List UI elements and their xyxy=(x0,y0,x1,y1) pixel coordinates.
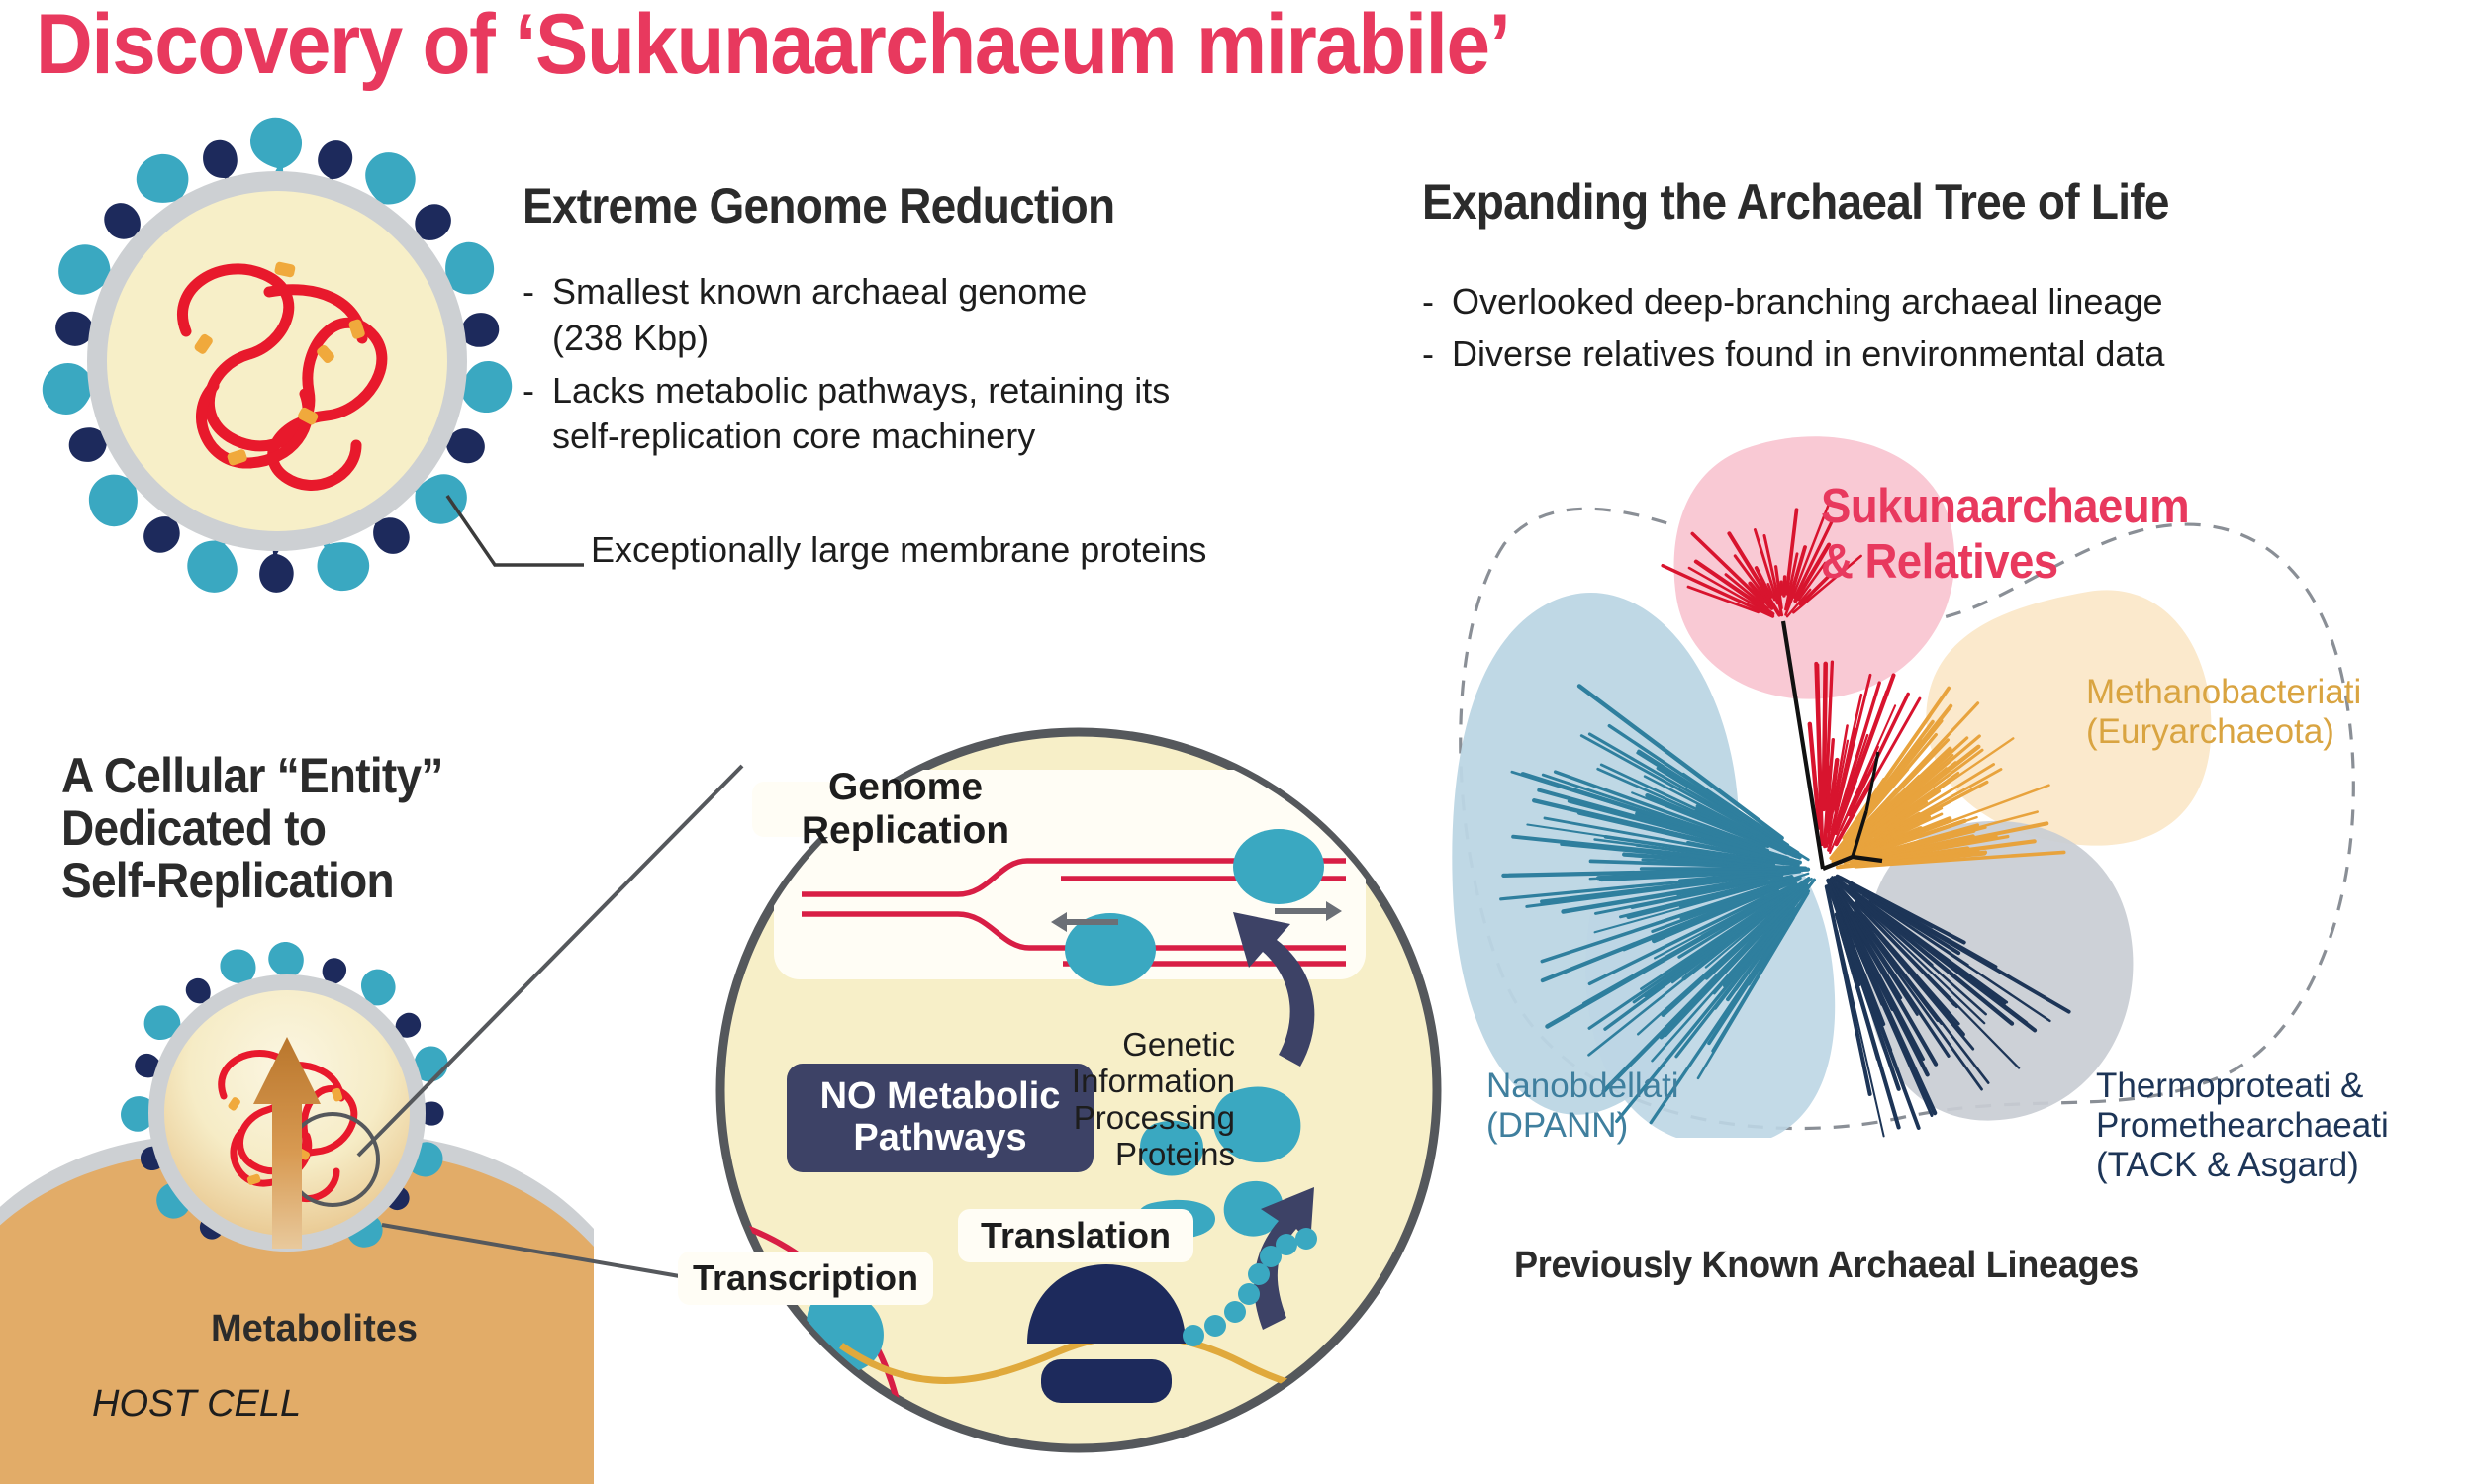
page-title: Discovery of ‘Sukunaarchaeum mirabile’ xyxy=(36,2,2152,87)
heading-tree-of-life: Expanding the Archaeal Tree of Life xyxy=(1422,176,2169,229)
bullets-tree-of-life: - Overlooked deep-branching archaeal lin… xyxy=(1422,279,2461,384)
bullet-dash: - xyxy=(523,269,552,362)
bullet-dash: - xyxy=(1422,279,1452,325)
tree-label-previously-known: Previously Known Archaeal Lineages xyxy=(1514,1245,2139,1287)
bullet-dash: - xyxy=(523,368,552,461)
polymerase-blob-icon xyxy=(1233,829,1324,904)
badge-translation: Translation xyxy=(958,1209,1193,1262)
bullet-text: Smallest known archaeal genome (238 Kbp) xyxy=(552,269,1087,362)
bullet-item: - Smallest known archaeal genome (238 Kb… xyxy=(523,269,1393,362)
label-host-cell: HOST CELL xyxy=(92,1383,301,1426)
bullet-item: - Overlooked deep-branching archaeal lin… xyxy=(1422,279,2461,325)
cell-cytoplasm xyxy=(107,191,447,531)
bullet-dash: - xyxy=(1422,331,1452,378)
bullet-item: - Lacks metabolic pathways, retaining it… xyxy=(523,368,1393,461)
heading-genome-reduction: Extreme Genome Reduction xyxy=(523,180,1114,232)
tree-label-sukunaarchaeum: Sukunaarchaeum & Relatives xyxy=(1821,480,2189,591)
bullet-text: Diverse relatives found in environmental… xyxy=(1452,331,2164,378)
badge-genome-replication: Genome Replication xyxy=(752,782,1059,837)
tree-label-nanobdellati: Nanobdellati (DPANN) xyxy=(1486,1067,1679,1146)
membrane-protein-leader-line xyxy=(435,490,614,599)
bullet-item: - Diverse relatives found in environment… xyxy=(1422,331,2461,378)
bullets-genome-reduction: - Smallest known archaeal genome (238 Kb… xyxy=(523,269,1393,466)
tree-label-methanobacteriati: Methanobacteriati (Euryarchaeota) xyxy=(2086,673,2361,752)
callout-membrane-proteins: Exceptionally large membrane proteins xyxy=(591,529,1206,571)
tree-branch-sukunaarchaeum xyxy=(1784,577,1785,596)
tree-label-thermoproteati: Thermoproteati & Promethearchaeati (TACK… xyxy=(2096,1067,2389,1185)
bullet-text: Overlooked deep-branching archaeal linea… xyxy=(1452,279,2163,325)
label-genetic-info-processing-proteins: Genetic Information Processing Proteins xyxy=(1025,1027,1235,1173)
badge-transcription: Transcription xyxy=(678,1252,933,1305)
bullet-text: Lacks metabolic pathways, retaining its … xyxy=(552,368,1170,461)
tree-branch-sukunaarchaeum xyxy=(1781,582,1782,594)
